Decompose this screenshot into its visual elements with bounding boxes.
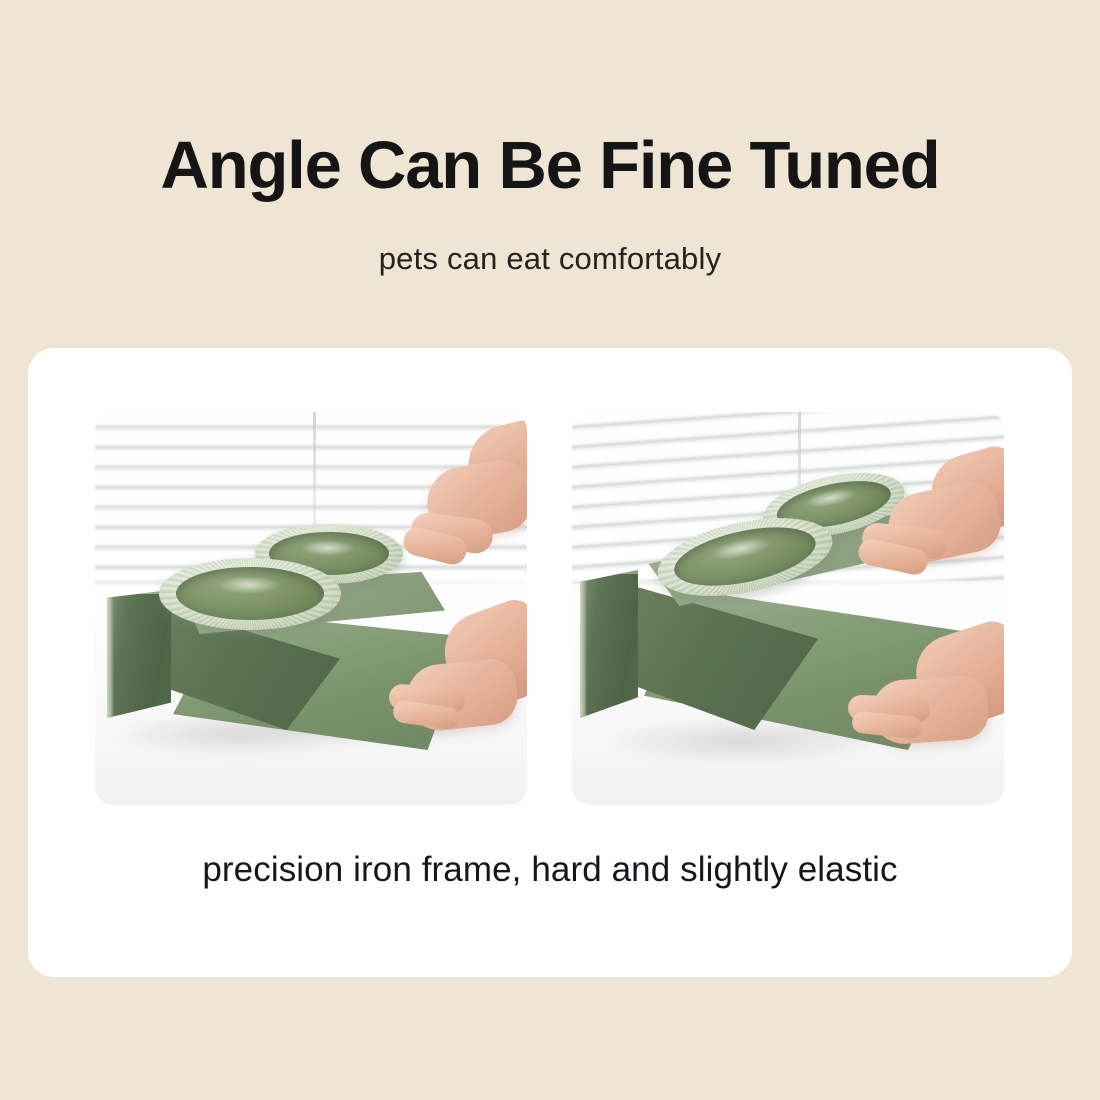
hand-lower [846, 630, 1004, 764]
stand-front-wall [580, 570, 638, 718]
scene-high-angle [572, 412, 1004, 805]
hand-upper [395, 424, 527, 584]
hand-lower [383, 608, 527, 748]
stand-edge-highlight [580, 570, 587, 718]
page-subtitle: pets can eat comfortably [0, 243, 1100, 274]
bowl-glint [301, 540, 355, 556]
card-caption: precision iron frame, hard and slightly … [28, 852, 1072, 887]
hand-upper [854, 452, 1004, 602]
bowl-glint [217, 576, 281, 594]
stand-edge-highlight [107, 590, 114, 718]
pet-bowl-front [159, 558, 341, 630]
scene-low-angle [95, 412, 527, 805]
content-card: precision iron frame, hard and slightly … [28, 348, 1072, 977]
product-photo-low-angle [95, 412, 527, 805]
product-photo-high-angle [572, 412, 1004, 805]
page-title: Angle Can Be Fine Tuned [0, 132, 1100, 199]
photo-row [95, 412, 1005, 805]
